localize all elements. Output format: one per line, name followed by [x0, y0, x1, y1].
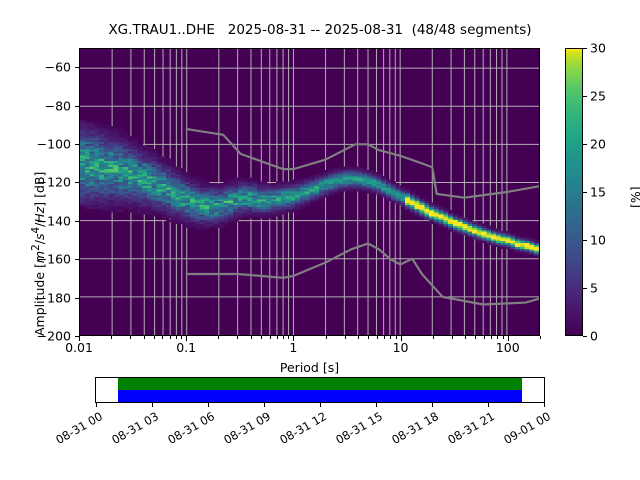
colorbar-label: [%] — [628, 186, 640, 208]
colorbar-tick-mark — [583, 240, 587, 241]
x-tick-mark — [162, 336, 163, 339]
y-tick-mark — [75, 67, 79, 68]
x-tick-mark — [218, 336, 219, 339]
x-tick-mark — [261, 336, 262, 339]
x-tick-mark — [491, 336, 492, 339]
colorbar-tick-label: 0 — [590, 329, 598, 344]
colorbar-tick-label: 5 — [590, 281, 598, 296]
colorbar-tick-label: 30 — [590, 41, 606, 56]
x-tick-mark — [484, 336, 485, 339]
coverage-segment-blue — [118, 390, 521, 402]
x-tick-mark — [377, 336, 378, 339]
x-tick-mark — [503, 336, 504, 339]
x-tick-mark — [237, 336, 238, 339]
x-tick-label: 10 — [393, 340, 409, 355]
time-tick-mark — [152, 403, 153, 407]
x-tick-mark — [154, 336, 155, 339]
time-tick-label: 08-31 03 — [104, 409, 161, 450]
time-tick-mark — [432, 403, 433, 407]
x-tick-mark — [288, 336, 289, 339]
x-tick-mark — [326, 336, 327, 339]
x-tick-mark — [384, 336, 385, 339]
x-tick-mark — [170, 336, 171, 339]
y-tick-label: −180 — [31, 290, 71, 305]
x-tick-mark — [475, 336, 476, 339]
x-tick-label: 0.1 — [176, 340, 196, 355]
ppsd-figure: XG.TRAU1..DHE 2025-08-31 -- 2025-08-31 (… — [0, 0, 640, 480]
time-tick-mark — [320, 403, 321, 407]
y-tick-label: −80 — [31, 98, 71, 113]
colorbar-tick-mark — [583, 144, 587, 145]
time-tick-mark — [264, 403, 265, 407]
x-tick-mark — [465, 336, 466, 339]
time-coverage-bar — [95, 377, 545, 403]
x-tick-mark — [130, 336, 131, 339]
colorbar-tick-mark — [583, 96, 587, 97]
colorbar-tick-label: 10 — [590, 233, 606, 248]
x-tick-label: 1 — [289, 340, 297, 355]
x-tick-mark — [540, 336, 541, 339]
x-tick-mark — [277, 336, 278, 339]
time-tick-mark — [488, 403, 489, 407]
time-tick-mark — [208, 403, 209, 407]
time-tick-label: 08-31 12 — [272, 409, 329, 450]
y-tick-mark — [75, 144, 79, 145]
colorbar-tick-mark — [583, 336, 587, 337]
x-tick-mark — [358, 336, 359, 339]
time-tick-label: 08-31 18 — [384, 409, 441, 450]
y-tick-mark — [75, 221, 79, 222]
y-tick-label: −160 — [31, 252, 71, 267]
colorbar — [565, 48, 583, 336]
time-tick-label: 08-31 21 — [440, 409, 497, 450]
y-tick-label: −140 — [31, 213, 71, 228]
y-tick-mark — [75, 298, 79, 299]
time-tick-mark — [96, 403, 97, 407]
colorbar-tick-label: 15 — [590, 185, 606, 200]
x-tick-mark — [251, 336, 252, 339]
colorbar-tick-label: 20 — [590, 137, 606, 152]
coverage-segment-green — [118, 378, 521, 390]
y-tick-label: −120 — [31, 175, 71, 190]
x-tick-mark — [390, 336, 391, 339]
time-tick-label: 08-31 15 — [328, 409, 385, 450]
x-tick-mark — [452, 336, 453, 339]
y-tick-label: −60 — [31, 60, 71, 75]
x-tick-mark — [283, 336, 284, 339]
x-tick-mark — [368, 336, 369, 339]
noise-model-layer — [80, 49, 539, 335]
figure-title: XG.TRAU1..DHE 2025-08-31 -- 2025-08-31 (… — [0, 22, 640, 38]
colorbar-label-wrap: [%] — [614, 48, 630, 336]
time-tick-label: 09-01 00 — [496, 409, 553, 450]
x-tick-mark — [176, 336, 177, 339]
ppsd-plot-area — [79, 48, 540, 336]
colorbar-tick-mark — [583, 48, 587, 49]
y-tick-mark — [75, 259, 79, 260]
x-tick-mark — [270, 336, 271, 339]
time-tick-label: 08-31 00 — [48, 409, 105, 450]
y-tick-mark — [75, 106, 79, 107]
x-tick-mark — [181, 336, 182, 339]
colorbar-tick-mark — [583, 288, 587, 289]
x-tick-label: 100 — [496, 340, 520, 355]
colorbar-tick-label: 25 — [590, 89, 606, 104]
time-tick-label: 08-31 09 — [216, 409, 273, 450]
x-tick-mark — [497, 336, 498, 339]
time-tick-label: 08-31 06 — [160, 409, 217, 450]
y-tick-mark — [75, 182, 79, 183]
x-tick-mark — [345, 336, 346, 339]
time-tick-mark — [544, 403, 545, 407]
x-tick-mark — [396, 336, 397, 339]
time-tick-mark — [376, 403, 377, 407]
y-axis-label-wrap: Amplitude [m2/s4/Hz] [dB] — [14, 48, 30, 336]
x-axis-label: Period [s] — [79, 360, 540, 375]
y-tick-label: −100 — [31, 137, 71, 152]
x-tick-mark — [111, 336, 112, 339]
x-tick-mark — [144, 336, 145, 339]
colorbar-tick-mark — [583, 192, 587, 193]
x-tick-label: 0.01 — [65, 340, 93, 355]
x-tick-mark — [433, 336, 434, 339]
